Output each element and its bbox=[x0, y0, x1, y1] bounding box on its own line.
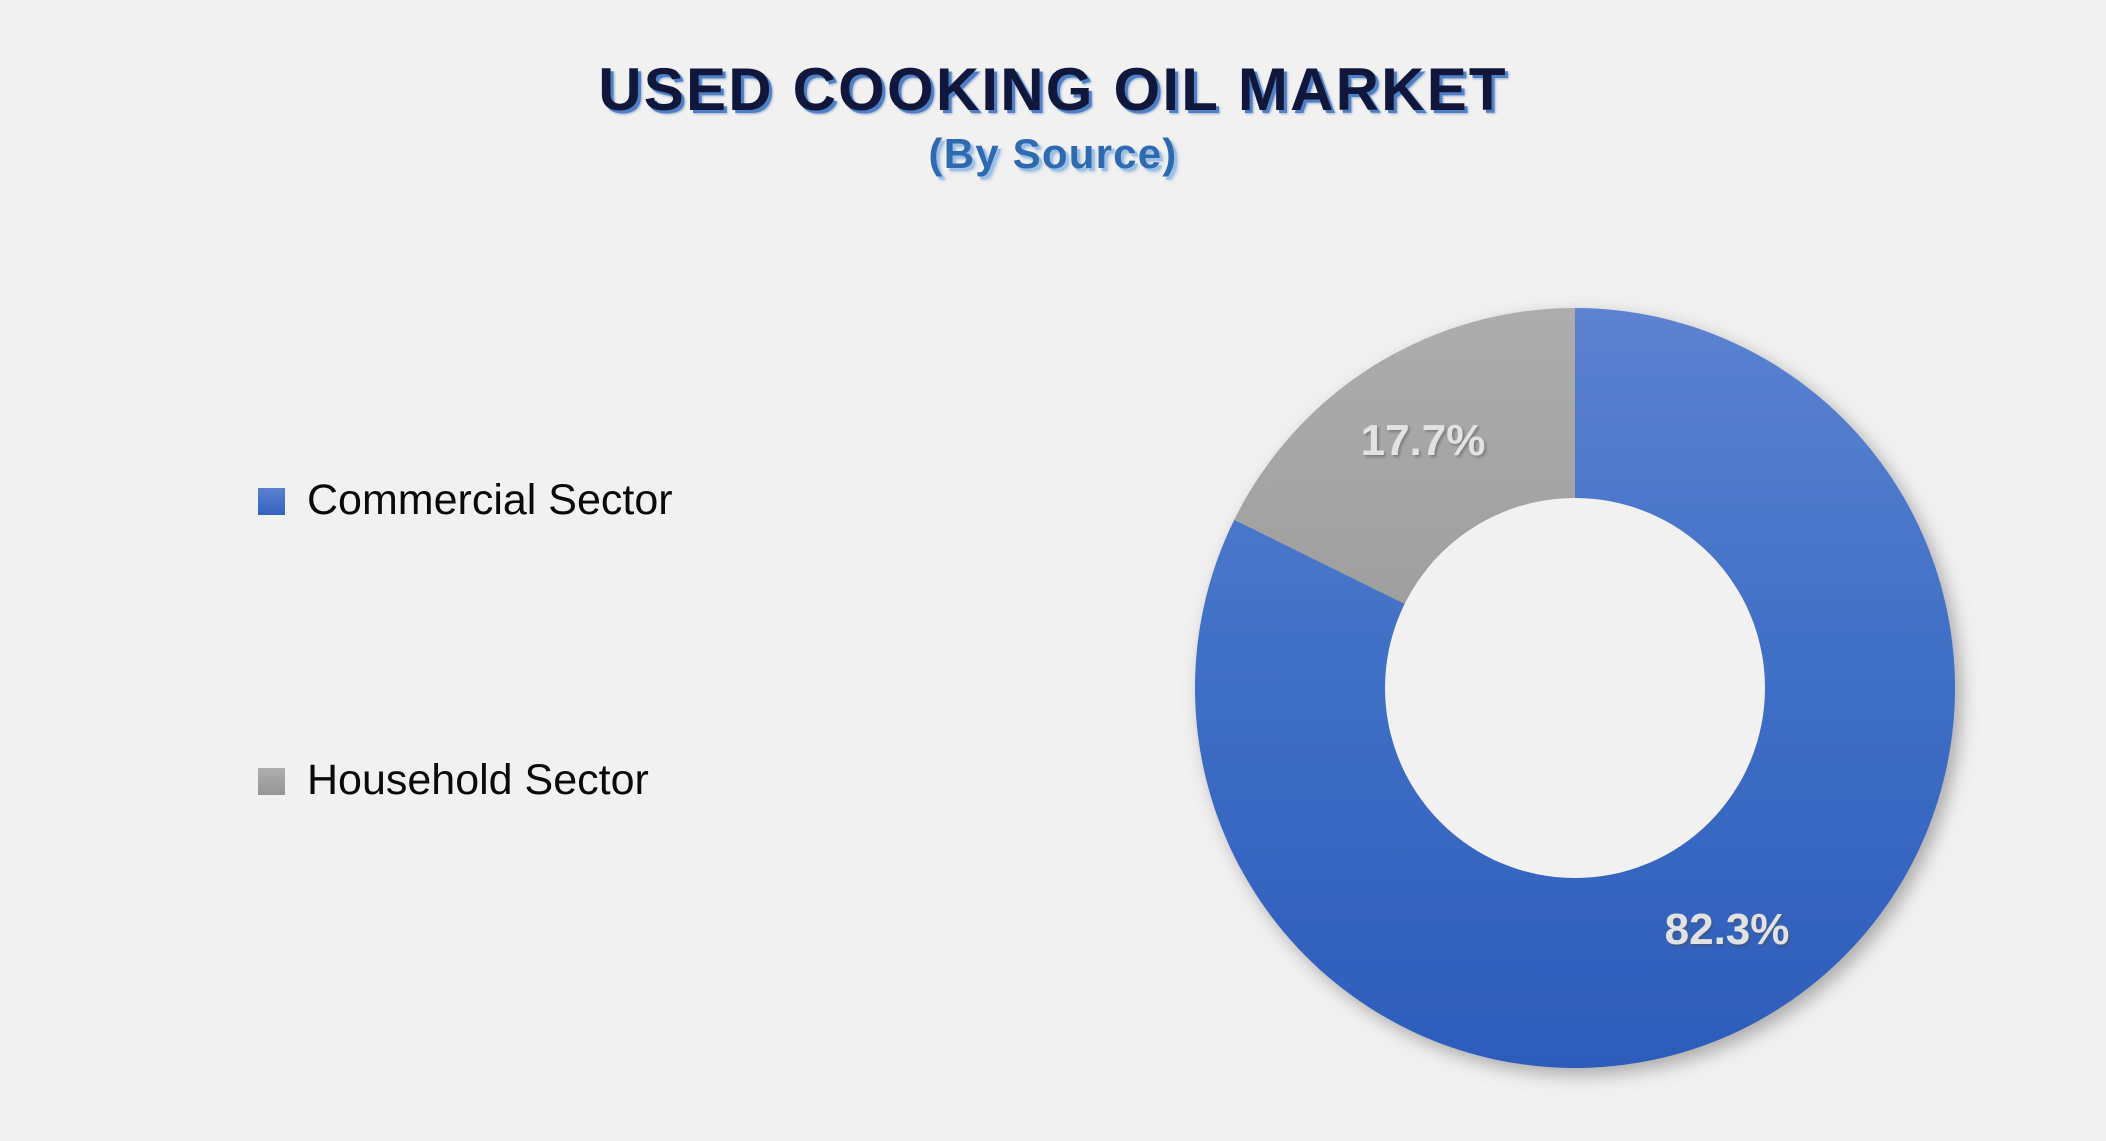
legend-label-household-sector: Household Sector bbox=[307, 759, 649, 802]
legend-item-household-sector[interactable]: Household Sector bbox=[258, 750, 818, 810]
legend-swatch-icon-commercial-sector bbox=[258, 488, 285, 515]
legend-label-commercial-sector: Commercial Sector bbox=[307, 479, 673, 522]
donut-center-hole bbox=[1385, 498, 1765, 878]
legend-swatch-icon-household-sector bbox=[258, 768, 285, 795]
donut-value-label-household-sector: 17.7% bbox=[1361, 416, 1486, 465]
chart-title-block: USED COOKING OIL MARKET (By Source) bbox=[0, 0, 2106, 177]
page-title: USED COOKING OIL MARKET bbox=[0, 58, 2106, 123]
chart-legend: Commercial Sector Household Sector bbox=[258, 470, 818, 810]
legend-item-commercial-sector[interactable]: Commercial Sector bbox=[258, 470, 818, 530]
donut-chart: 82.3% 17.7% bbox=[1135, 248, 2015, 1128]
donut-value-label-commercial-sector: 82.3% bbox=[1665, 905, 1790, 954]
donut-chart-svg: 82.3% 17.7% bbox=[1135, 248, 2015, 1128]
page-subtitle: (By Source) bbox=[0, 131, 2106, 177]
